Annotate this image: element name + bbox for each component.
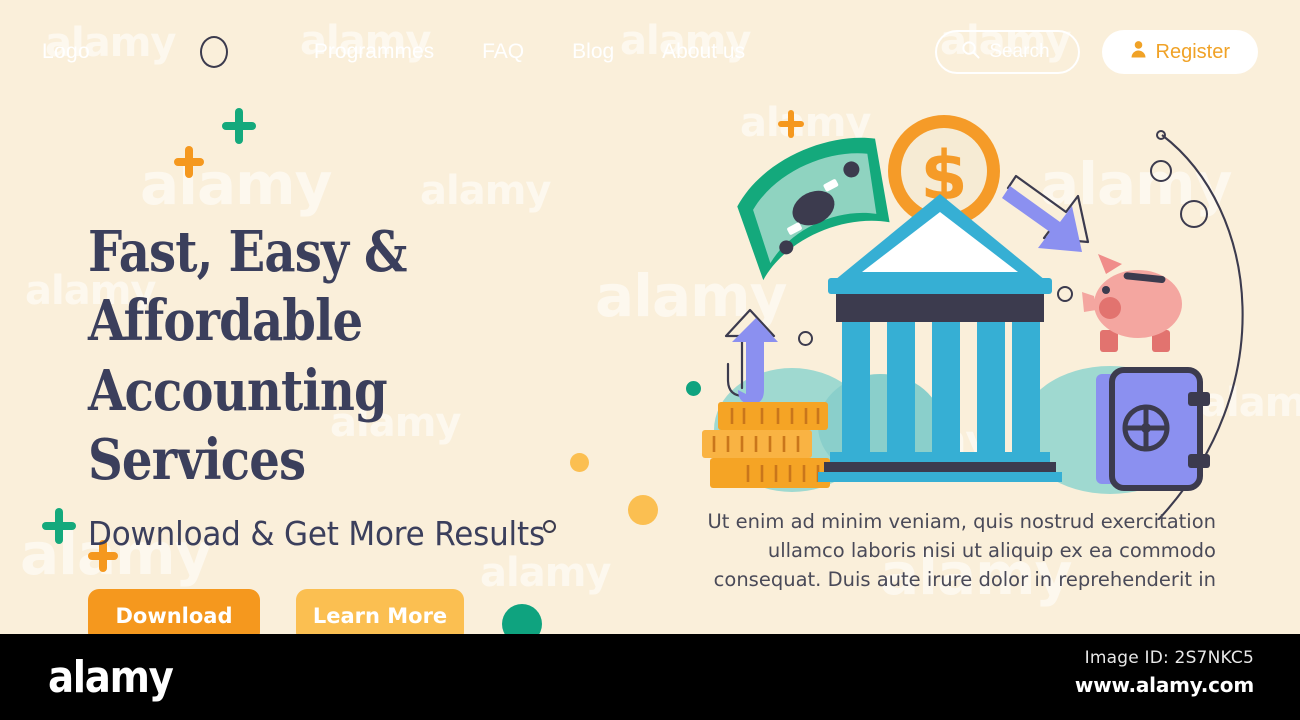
download-button[interactable]: Download [88,589,260,634]
safe-book-icon [1096,370,1210,488]
hero-copy: Fast, Easy & Affordable Accounting Servi… [88,218,688,634]
alamy-logo: alamy [48,652,173,703]
hero-section: alamy alamy alamy alamy alamy alamy alam… [0,0,1300,634]
nav-item-about-us[interactable]: About us [662,40,745,64]
page-subtitle: Download & Get More Results [88,514,652,553]
circle-outline-icon [200,36,228,68]
nav-item-faq[interactable]: FAQ [482,40,524,64]
nav-item-programmes[interactable]: Programmes [314,40,434,64]
footer-meta: Image ID: 2S7NKC5 www.alamy.com [1075,648,1254,697]
accounting-finance-illustration: $ [640,90,1300,520]
cta-button-row: Download Learn More [88,589,688,634]
register-label: Register [1156,41,1230,64]
top-navigation-bar: Logo Programmes FAQ Blog About us Search [0,22,1300,82]
register-button[interactable]: Register [1102,30,1258,74]
arrow-down-right-icon [1002,176,1088,252]
search-label: Search [989,41,1049,63]
bank-building-icon [818,194,1062,482]
coin-stack-icon [702,402,830,488]
image-id-label: Image ID: 2S7NKC5 [1075,648,1254,668]
page-title: Fast, Easy & Affordable Accounting Servi… [88,218,604,496]
piggy-bank-icon [1082,254,1182,352]
hero-paragraph: Ut enim ad minim veniam, quis nostrud ex… [700,508,1216,595]
stock-photo-footer: alamy Image ID: 2S7NKC5 www.alamy.com [0,634,1300,720]
search-button[interactable]: Search [935,30,1079,74]
plus-decor-icon [222,108,256,144]
plus-decor-icon [42,508,76,544]
nav-actions: Search Register [935,30,1258,74]
learn-more-button[interactable]: Learn More [296,589,464,634]
watermark-text: alamy [420,168,550,214]
nav-links: Programmes FAQ Blog About us [314,40,745,64]
search-icon [961,40,980,65]
screenshot-root: alamy alamy alamy alamy alamy alamy alam… [0,0,1300,720]
alamy-url-label: www.alamy.com [1075,673,1254,697]
watermark-text: alamy [140,150,331,218]
brand-logo[interactable]: Logo [42,40,90,64]
plus-decor-icon [174,146,204,178]
nav-item-blog[interactable]: Blog [572,40,614,64]
user-icon [1130,40,1147,64]
